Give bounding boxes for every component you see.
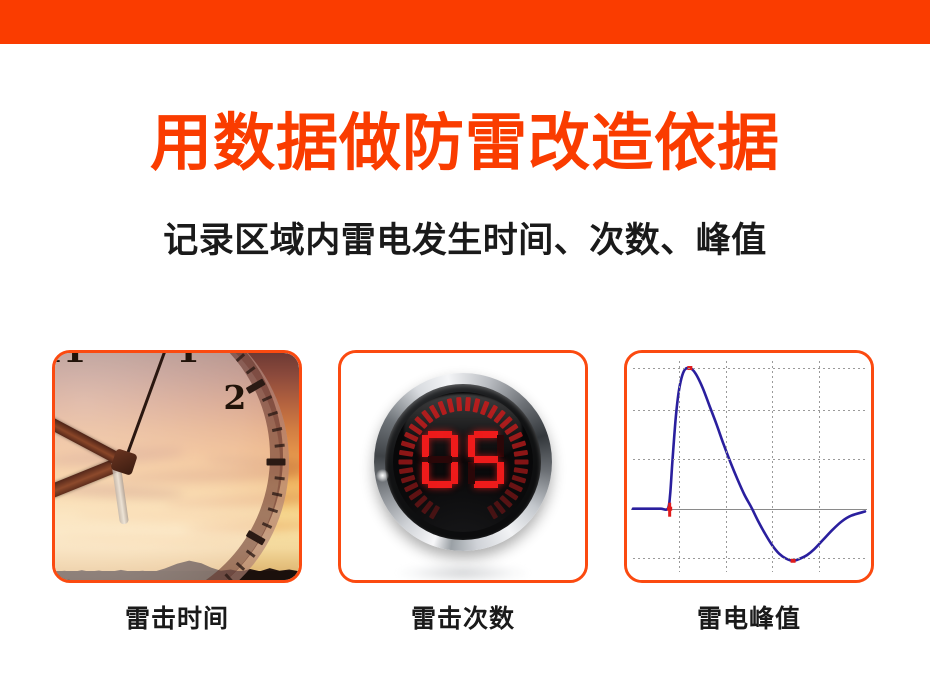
led-segment-g [474,456,498,463]
led-segment-f [422,435,429,457]
page-title: 用数据做防雷改造依据 [0,104,930,182]
counter-tick [398,467,413,474]
clock-hour-tick [266,459,285,466]
led-segment-d [474,481,498,488]
led-digit [421,431,459,489]
clock-numeral: 2 [215,380,255,416]
clock-dial: 8910111212 [55,353,289,580]
grid-line-vertical [726,361,727,572]
clock-numeral: 11 [55,353,80,369]
led-segment-f [468,435,475,457]
counter-tick [398,449,413,456]
digital-counter-gauge [374,373,552,551]
card-lightning-strike-time[interactable]: 8910111212 [52,350,302,583]
feature-card-row: 8910111212 [0,350,930,583]
caption-lightning-peak-value: 雷电峰值 [624,602,874,636]
led-segment-c [451,462,458,484]
led-segment-e [422,462,429,484]
impulse-waveform-chart [627,353,871,580]
caption-row: 雷击时间 雷击次数 雷电峰值 [0,602,930,644]
waveform-marker-trough [791,559,796,563]
led-segment-e [468,462,475,484]
led-digit-display [418,431,508,489]
bezel-highlight [376,469,389,482]
clock-photo: 8910111212 [55,353,299,580]
led-segment-d [428,481,452,488]
waveform-onset-tick [668,503,671,517]
led-segment-a [428,431,452,438]
led-segment-c [497,462,504,484]
led-segment-b [451,435,458,457]
caption-lightning-strike-count: 雷击次数 [338,602,588,636]
counter-tick [456,396,462,410]
counter-tick [464,396,470,410]
counter-tick [513,467,528,474]
counter-tick [514,459,528,464]
page-subtitle: 记录区域内雷电发生时间、次数、峰值 [0,218,930,264]
counter-tick [513,449,528,456]
top-accent-bar [0,0,930,44]
waveform-curve [627,353,871,580]
grid-line-vertical [679,361,680,572]
grid-line-vertical [819,361,820,572]
grid-line-horizontal [633,558,865,559]
counter-shadow [399,562,527,580]
counter-tick [400,474,415,483]
card-lightning-peak-value[interactable] [624,350,874,583]
grid-line-horizontal [633,410,865,411]
grid-line-horizontal [633,459,865,460]
led-segment-b [497,435,504,457]
led-digit [467,431,505,489]
led-segment-a [474,431,498,438]
led-segment-g [428,456,452,463]
counter-tick [398,459,412,464]
caption-lightning-strike-time: 雷击时间 [52,602,302,636]
counter-photo [341,353,585,580]
grid-line-horizontal [633,368,865,369]
grid-line-vertical [772,361,773,572]
counter-tick [511,474,526,483]
card-lightning-strike-count[interactable] [338,350,588,583]
clock-numeral: 1 [168,353,208,369]
impulse-curve [633,368,865,561]
